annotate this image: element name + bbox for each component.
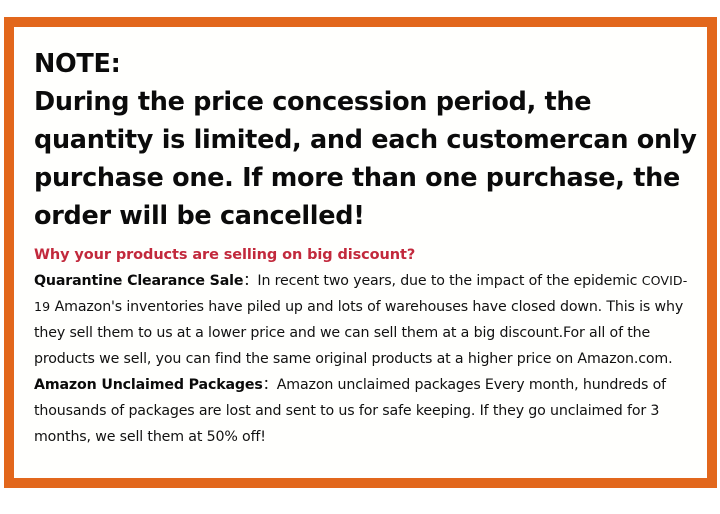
notice-heading-label: NOTE: <box>34 49 121 79</box>
section-amazon-unclaimed-packages: Amazon Unclaimed Packages：Amazon unclaim… <box>24 372 707 450</box>
notice-heading-body: During the price concession period, the … <box>34 87 705 231</box>
section-lead-label: Quarantine Clearance Sale <box>34 273 243 289</box>
section-lead-label: Amazon Unclaimed Packages <box>34 377 263 393</box>
section-text-before-acronym: In recent two years, due to the impact o… <box>257 273 641 289</box>
section-text-after-acronym: Amazon's inventories have piled up and l… <box>34 299 683 367</box>
section-quarantine-clearance-sale: Quarantine Clearance Sale：In recent two … <box>24 268 707 372</box>
notice-card: NOTE:During the price concession period,… <box>4 17 717 488</box>
notice-card-inner: NOTE:During the price concession period,… <box>14 27 707 478</box>
section-separator: ： <box>243 273 257 289</box>
notice-subheading: Why your products are selling on big dis… <box>24 242 707 268</box>
notice-heading: NOTE:During the price concession period,… <box>24 45 707 235</box>
section-separator: ： <box>263 377 277 393</box>
